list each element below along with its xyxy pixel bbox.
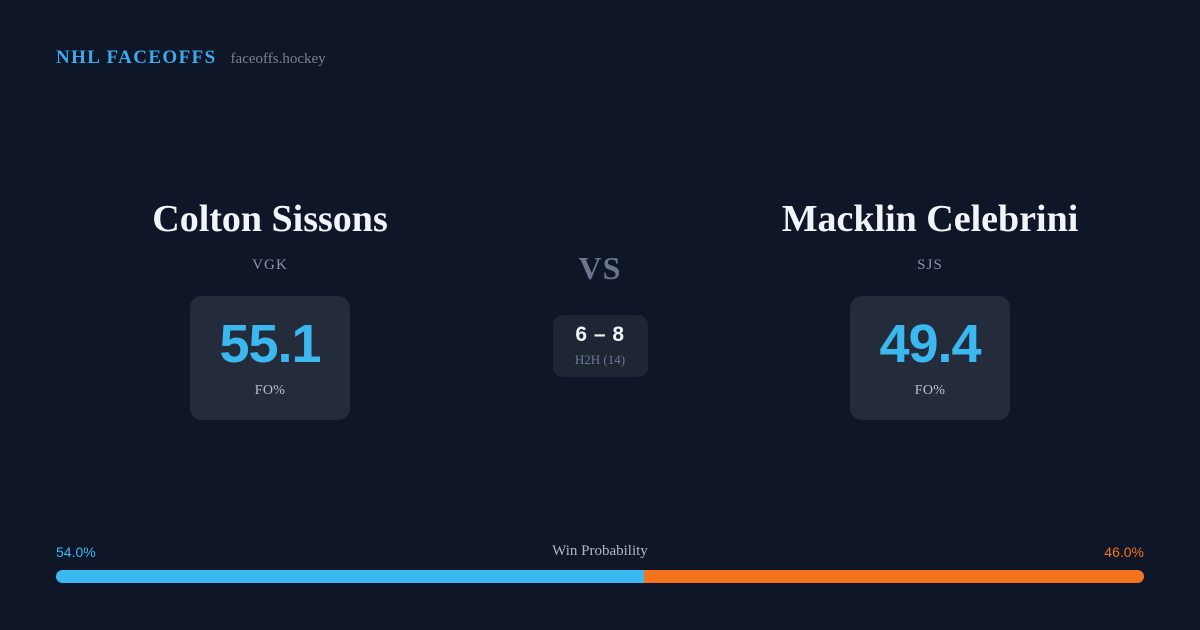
win-probability-bar [56,570,1144,583]
brand-domain: faceoffs.hockey [231,51,326,68]
player-panel-right: Macklin Celebrini SJS 49.4 FO% [700,196,1160,420]
win-probability-legend: 54.0% Win Probability 46.0% [56,541,1144,562]
head-to-head-card: 6 – 8 H2H (14) [553,315,648,377]
player-name-right: Macklin Celebrini [782,196,1079,242]
stat-card-right: 49.4 FO% [850,296,1010,420]
stat-label-left: FO% [255,383,285,399]
versus-label: VS [579,252,622,284]
stat-value-right: 49.4 [879,317,980,371]
win-probability-right-value: 46.0% [1104,544,1144,560]
stat-card-left: 55.1 FO% [190,296,350,420]
stat-label-right: FO% [915,383,945,399]
head-to-head-score: 6 – 8 [575,324,624,345]
team-abbr-left: VGK [252,257,288,274]
versus-panel: VS 6 – 8 H2H (14) [500,196,700,377]
player-panel-left: Colton Sissons VGK 55.1 FO% [40,196,500,420]
brand-title: NHL FACEOFFS [56,47,217,69]
win-probability-section: 54.0% Win Probability 46.0% [56,541,1144,583]
stat-value-left: 55.1 [219,317,320,371]
win-probability-bar-left [56,570,644,583]
win-probability-bar-right [644,570,1144,583]
matchup-section: Colton Sissons VGK 55.1 FO% VS 6 – 8 H2H… [0,196,1200,420]
site-header: NHL FACEOFFS faceoffs.hockey [56,47,326,69]
player-name-left: Colton Sissons [152,196,387,242]
win-probability-left-value: 54.0% [56,544,96,560]
team-abbr-right: SJS [917,257,943,274]
head-to-head-label: H2H (14) [575,352,625,368]
win-probability-title: Win Probability [552,543,648,560]
